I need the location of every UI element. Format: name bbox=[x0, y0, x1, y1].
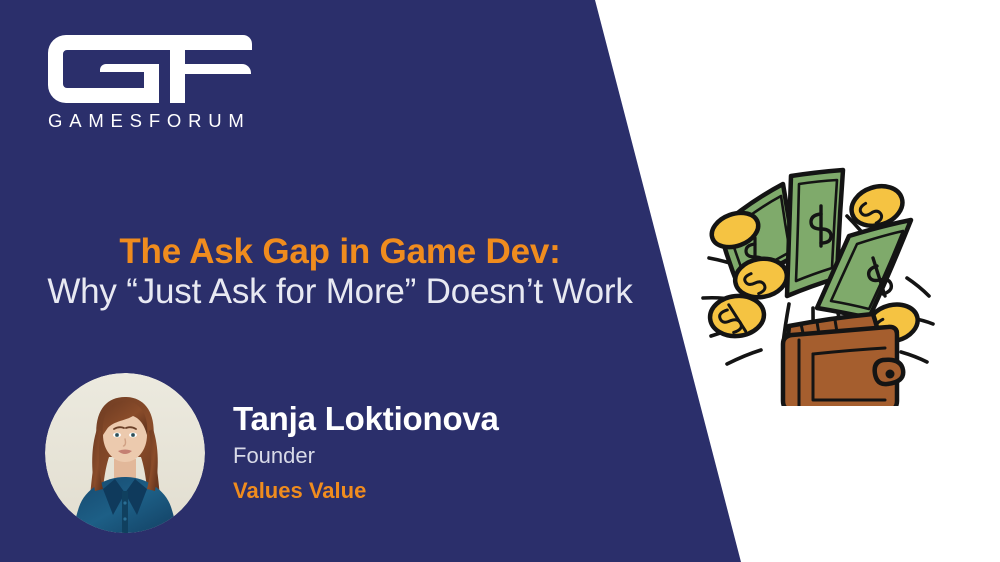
speaker-role: Founder bbox=[233, 442, 653, 471]
speaker-name: Tanja Loktionova bbox=[233, 400, 653, 438]
speaker-details: Tanja Loktionova Founder Values Value bbox=[233, 400, 653, 505]
gamesforum-logo: GAMESFORUM bbox=[46, 33, 261, 131]
speaker-avatar bbox=[45, 373, 205, 533]
title-line-secondary: Why “Just Ask for More” Doesn’t Work bbox=[0, 272, 680, 311]
title-line-primary: The Ask Gap in Game Dev: bbox=[0, 232, 680, 271]
logo-wordmark: GAMESFORUM bbox=[46, 112, 261, 131]
wallet-illustration bbox=[697, 158, 937, 406]
speaker-headshot-image bbox=[45, 373, 205, 533]
wallet-with-cash-and-coins-icon bbox=[697, 158, 937, 406]
presentation-slide: GAMESFORUM The Ask Gap in Game Dev: Why … bbox=[0, 0, 1000, 562]
speaker-company: Values Value bbox=[233, 477, 653, 506]
gf-monogram-icon bbox=[46, 33, 258, 105]
slide-title-group: The Ask Gap in Game Dev: Why “Just Ask f… bbox=[0, 232, 680, 311]
